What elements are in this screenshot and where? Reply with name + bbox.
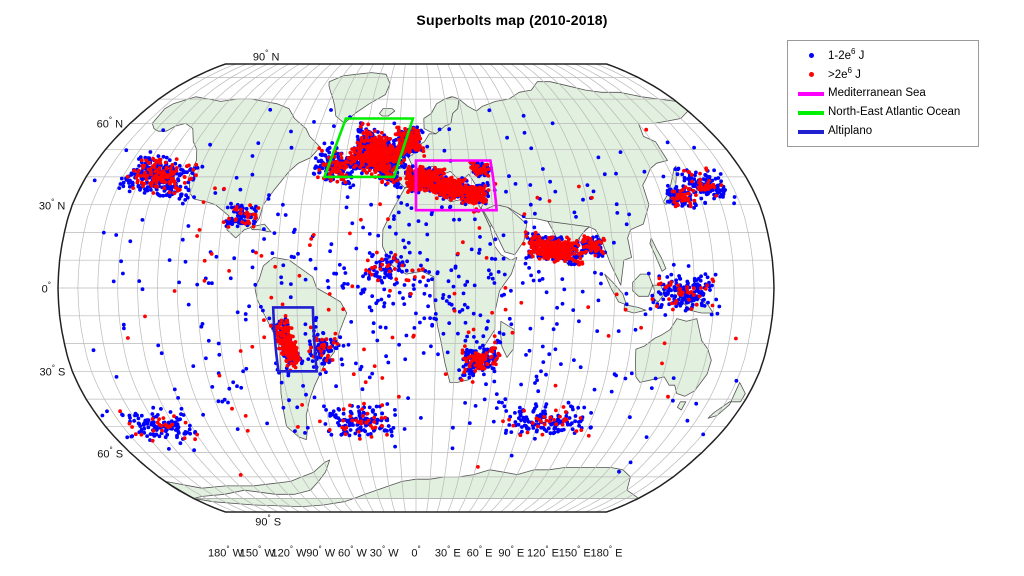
scatter-point	[342, 266, 346, 270]
scatter-point	[170, 419, 174, 423]
scatter-point	[405, 269, 409, 273]
scatter-point	[673, 167, 677, 171]
scatter-point	[349, 411, 353, 415]
scatter-point	[562, 428, 566, 432]
scatter-point	[399, 201, 403, 205]
scatter-point	[186, 431, 190, 435]
scatter-point	[581, 290, 585, 294]
scatter-point	[312, 120, 316, 124]
scatter-point	[528, 349, 532, 353]
scatter-point	[388, 137, 392, 141]
scatter-point	[207, 281, 211, 285]
scatter-point	[156, 344, 160, 348]
scatter-point	[593, 271, 597, 275]
scatter-point	[261, 309, 265, 313]
scatter-point	[425, 145, 429, 149]
scatter-point	[494, 237, 498, 241]
scatter-point	[474, 404, 478, 408]
scatter-point	[131, 182, 135, 186]
scatter-point	[466, 306, 470, 310]
scatter-point	[380, 138, 384, 142]
scatter-point	[454, 265, 458, 269]
scatter-point	[425, 258, 429, 262]
scatter-point	[733, 195, 737, 199]
scatter-point	[370, 172, 374, 176]
scatter-point	[716, 312, 720, 316]
scatter-point	[624, 377, 628, 381]
scatter-point	[372, 321, 376, 325]
scatter-point	[625, 222, 629, 226]
scatter-point	[267, 197, 271, 201]
scatter-point	[390, 260, 394, 264]
scatter-point	[493, 370, 497, 374]
scatter-point	[629, 461, 633, 465]
scatter-point	[179, 168, 183, 172]
scatter-point	[448, 206, 452, 210]
scatter-point	[289, 130, 293, 134]
scatter-point	[328, 249, 332, 253]
scatter-point	[380, 180, 384, 184]
scatter-point	[483, 398, 487, 402]
scatter-point	[398, 177, 402, 181]
scatter-point	[503, 404, 507, 408]
scatter-point	[710, 179, 714, 183]
scatter-point	[672, 376, 676, 380]
scatter-point	[704, 272, 708, 276]
scatter-point	[495, 406, 499, 410]
scatter-point	[544, 373, 548, 377]
scatter-point	[371, 330, 375, 334]
scatter-point	[396, 132, 400, 136]
scatter-point	[383, 141, 387, 145]
scatter-point	[151, 406, 155, 410]
scatter-point	[673, 286, 677, 290]
scatter-point	[539, 369, 543, 373]
scatter-point	[251, 154, 255, 158]
scatter-point	[509, 322, 513, 326]
scatter-point	[316, 333, 320, 337]
scatter-point	[401, 239, 405, 243]
scatter-point	[403, 246, 407, 250]
scatter-point	[592, 190, 596, 194]
scatter-point	[350, 221, 354, 225]
scatter-point	[177, 431, 181, 435]
scatter-point	[296, 252, 300, 256]
scatter-point	[360, 365, 364, 369]
scatter-point	[504, 409, 508, 413]
scatter-point	[213, 191, 217, 195]
scatter-point	[421, 130, 425, 134]
scatter-point	[342, 282, 346, 286]
scatter-point	[706, 301, 710, 305]
scatter-point	[406, 396, 410, 400]
scatter-point	[477, 251, 481, 255]
scatter-point	[360, 145, 364, 149]
scatter-point	[700, 304, 704, 308]
scatter-point	[547, 427, 551, 431]
scatter-point	[392, 426, 396, 430]
scatter-point	[400, 270, 404, 274]
scatter-point	[380, 131, 384, 135]
scatter-point	[589, 425, 593, 429]
scatter-point	[327, 286, 331, 290]
scatter-point	[409, 140, 413, 144]
scatter-point	[473, 284, 477, 288]
scatter-point	[152, 424, 156, 428]
scatter-point	[674, 278, 678, 282]
scatter-point	[384, 257, 388, 261]
scatter-point	[716, 184, 720, 188]
scatter-point	[392, 217, 396, 221]
scatter-point	[342, 344, 346, 348]
scatter-point	[509, 430, 513, 434]
scatter-point	[351, 423, 355, 427]
scatter-point	[664, 293, 668, 297]
scatter-point	[395, 149, 399, 153]
scatter-point	[245, 207, 249, 211]
scatter-point	[181, 238, 185, 242]
scatter-point	[235, 176, 239, 180]
scatter-point	[394, 232, 398, 236]
scatter-point	[380, 161, 384, 165]
scatter-point	[721, 195, 725, 199]
scatter-point	[293, 429, 297, 433]
scatter-point	[402, 302, 406, 306]
scatter-point	[489, 272, 493, 276]
scatter-point	[488, 242, 492, 246]
scatter-point	[215, 255, 219, 259]
scatter-point	[119, 259, 123, 263]
scatter-point	[387, 172, 391, 176]
scatter-point	[436, 352, 440, 356]
scatter-point	[143, 419, 147, 423]
scatter-point	[498, 331, 502, 335]
scatter-point	[314, 316, 318, 320]
scatter-point	[396, 185, 400, 189]
scatter-point	[356, 285, 360, 289]
scatter-point	[405, 146, 409, 150]
scatter-point	[527, 266, 531, 270]
scatter-point	[397, 264, 401, 268]
scatter-point	[529, 274, 533, 278]
scatter-point	[428, 294, 432, 298]
scatter-point	[537, 270, 541, 274]
scatter-point	[388, 225, 392, 229]
scatter-point	[484, 382, 488, 386]
scatter-point	[704, 173, 708, 177]
scatter-point	[413, 326, 417, 330]
scatter-point	[281, 203, 285, 207]
scatter-point	[388, 159, 392, 163]
scatter-point	[714, 273, 718, 277]
scatter-point	[329, 108, 333, 112]
scatter-point	[141, 218, 145, 222]
scatter-point	[504, 429, 508, 433]
scatter-point	[280, 381, 284, 385]
scatter-point	[424, 284, 428, 288]
scatter-point	[282, 406, 286, 410]
scatter-point	[529, 203, 533, 207]
scatter-point	[324, 422, 328, 426]
scatter-point	[373, 129, 377, 133]
scatter-point	[247, 304, 251, 308]
scatter-point	[399, 255, 403, 259]
scatter-point	[528, 183, 532, 187]
scatter-point	[192, 195, 196, 199]
scatter-point	[735, 379, 739, 383]
scatter-point	[410, 206, 414, 210]
scatter-point	[119, 182, 123, 186]
scatter-point	[667, 189, 671, 193]
scatter-point	[254, 209, 258, 213]
scatter-point	[128, 185, 132, 189]
scatter-point	[615, 202, 619, 206]
scatter-point	[179, 412, 183, 416]
scatter-point	[487, 108, 491, 112]
scatter-point	[495, 392, 499, 396]
scatter-point	[414, 129, 418, 133]
scatter-point	[411, 164, 415, 168]
scatter-point	[529, 146, 533, 150]
scatter-point	[361, 226, 365, 230]
scatter-point	[493, 281, 497, 285]
scatter-point	[125, 435, 129, 439]
scatter-point	[502, 233, 506, 237]
scatter-point	[442, 332, 446, 336]
scatter-point	[235, 384, 239, 388]
scatter-point	[345, 206, 349, 210]
scatter-point	[360, 163, 364, 167]
scatter-point	[551, 121, 555, 125]
scatter-point	[502, 332, 506, 336]
scatter-point	[677, 167, 681, 171]
scatter-point	[675, 185, 679, 189]
scatter-point	[398, 291, 402, 295]
scatter-point	[304, 322, 308, 326]
scatter-point	[186, 196, 190, 200]
scatter-point	[135, 413, 139, 417]
scatter-point	[128, 190, 132, 194]
scatter-point	[464, 363, 468, 367]
scatter-point	[239, 386, 243, 390]
scatter-point	[500, 401, 504, 405]
scatter-point	[384, 326, 388, 330]
scatter-point	[376, 166, 380, 170]
scatter-point	[303, 431, 307, 435]
scatter-point	[273, 231, 277, 235]
scatter-point	[327, 151, 331, 155]
scatter-point	[463, 303, 467, 307]
scatter-point	[696, 286, 700, 290]
scatter-point	[666, 184, 670, 188]
scatter-point	[693, 283, 697, 287]
scatter-point	[614, 172, 618, 176]
scatter-point	[410, 130, 414, 134]
scatter-point	[681, 297, 685, 301]
scatter-point	[145, 422, 149, 426]
scatter-point	[370, 294, 374, 298]
scatter-point	[503, 397, 507, 401]
scatter-point	[265, 422, 269, 426]
scatter-point	[92, 348, 96, 352]
scatter-point	[137, 164, 141, 168]
scatter-point	[441, 296, 445, 300]
scatter-point	[403, 283, 407, 287]
scatter-point	[251, 266, 255, 270]
scatter-point	[657, 290, 661, 294]
scatter-point	[463, 401, 467, 405]
scatter-point	[398, 143, 402, 147]
scatter-point	[253, 283, 257, 287]
scatter-point	[210, 385, 214, 389]
scatter-point	[395, 126, 399, 130]
scatter-point	[334, 384, 338, 388]
scatter-point	[617, 470, 621, 474]
scatter-point	[702, 298, 706, 302]
scatter-point	[286, 374, 290, 378]
scatter-point	[412, 283, 416, 287]
scatter-point	[561, 302, 565, 306]
scatter-point	[167, 447, 171, 451]
scatter-point	[692, 146, 696, 150]
scatter-point	[379, 325, 383, 329]
scatter-point	[366, 145, 370, 149]
scatter-point	[732, 201, 736, 205]
scatter-point	[372, 153, 376, 157]
scatter-point	[289, 282, 293, 286]
scatter-point	[395, 179, 399, 183]
scatter-point	[220, 400, 224, 404]
scatter-point	[490, 257, 494, 261]
scatter-point	[236, 224, 240, 228]
scatter-point	[369, 148, 373, 152]
scatter-point	[375, 274, 379, 278]
scatter-point	[625, 292, 629, 296]
scatter-point	[397, 343, 401, 347]
scatter-point	[465, 335, 469, 339]
scatter-point	[384, 354, 388, 358]
scatter-point	[531, 426, 535, 430]
scatter-point	[241, 369, 245, 373]
scatter-point	[130, 434, 134, 438]
scatter-point	[535, 375, 539, 379]
scatter-point	[392, 139, 396, 143]
scatter-point	[227, 387, 231, 391]
scatter-point	[112, 280, 116, 284]
scatter-point	[180, 407, 184, 411]
scatter-point	[412, 145, 416, 149]
scatter-point	[671, 399, 675, 403]
scatter-point	[482, 373, 486, 377]
scatter-point	[464, 321, 468, 325]
scatter-point	[427, 270, 431, 274]
scatter-point	[159, 407, 163, 411]
scatter-point	[330, 433, 334, 437]
scatter-point	[519, 383, 523, 387]
scatter-point	[697, 277, 701, 281]
scatter-point	[544, 235, 548, 239]
scatter-point	[603, 172, 607, 176]
scatter-point	[376, 299, 380, 303]
scatter-point	[430, 277, 434, 281]
scatter-point	[338, 263, 342, 267]
scatter-point	[179, 441, 183, 445]
scatter-point	[518, 406, 522, 410]
scatter-point	[440, 205, 444, 209]
scatter-point	[239, 188, 243, 192]
scatter-point	[415, 125, 419, 129]
scatter-point	[362, 428, 366, 432]
scatter-point	[579, 365, 583, 369]
scatter-point	[244, 312, 248, 316]
scatter-point	[368, 376, 372, 380]
scatter-point	[673, 294, 677, 298]
scatter-point	[175, 435, 179, 439]
scatter-point	[438, 127, 442, 131]
scatter-point	[349, 320, 353, 324]
scatter-point	[573, 419, 577, 423]
scatter-point	[597, 156, 601, 160]
scatter-point	[509, 289, 513, 293]
scatter-point	[523, 131, 527, 135]
scatter-point	[381, 145, 385, 149]
scatter-point	[393, 283, 397, 287]
scatter-point	[380, 412, 384, 416]
scatter-point	[149, 150, 153, 154]
scatter-point	[567, 401, 571, 405]
scatter-point	[712, 168, 716, 172]
scatter-point	[617, 329, 621, 333]
scatter-point	[647, 272, 651, 276]
scatter-point	[577, 319, 581, 323]
scatter-point	[505, 136, 509, 140]
scatter-point	[535, 404, 539, 408]
scatter-point	[188, 428, 192, 432]
scatter-point	[694, 402, 698, 406]
scatter-point	[304, 332, 308, 336]
scatter-point	[643, 170, 647, 174]
scatter-point	[370, 254, 374, 258]
scatter-point	[168, 258, 172, 262]
scatter-point	[493, 257, 497, 261]
scatter-point	[544, 405, 548, 409]
scatter-point	[281, 263, 285, 267]
scatter-point	[129, 173, 133, 177]
scatter-point	[105, 409, 109, 413]
scatter-point	[457, 218, 461, 222]
scatter-point	[146, 426, 150, 430]
scatter-point	[479, 313, 483, 317]
scatter-point	[692, 206, 696, 210]
scatter-point	[541, 167, 545, 171]
scatter-point	[447, 295, 451, 299]
scatter-point	[467, 376, 471, 380]
scatter-point	[401, 136, 405, 140]
scatter-point	[178, 197, 182, 201]
scatter-point	[576, 406, 580, 410]
scatter-point	[348, 434, 352, 438]
scatter-point	[244, 318, 248, 322]
scatter-point	[387, 255, 391, 259]
scatter-point	[180, 192, 184, 196]
scatter-point	[115, 375, 119, 379]
scatter-point	[654, 377, 658, 381]
scatter-point	[292, 255, 296, 259]
scatter-point	[185, 170, 189, 174]
scatter-point	[314, 267, 318, 271]
scatter-point	[702, 177, 706, 181]
scatter-point	[322, 362, 326, 366]
